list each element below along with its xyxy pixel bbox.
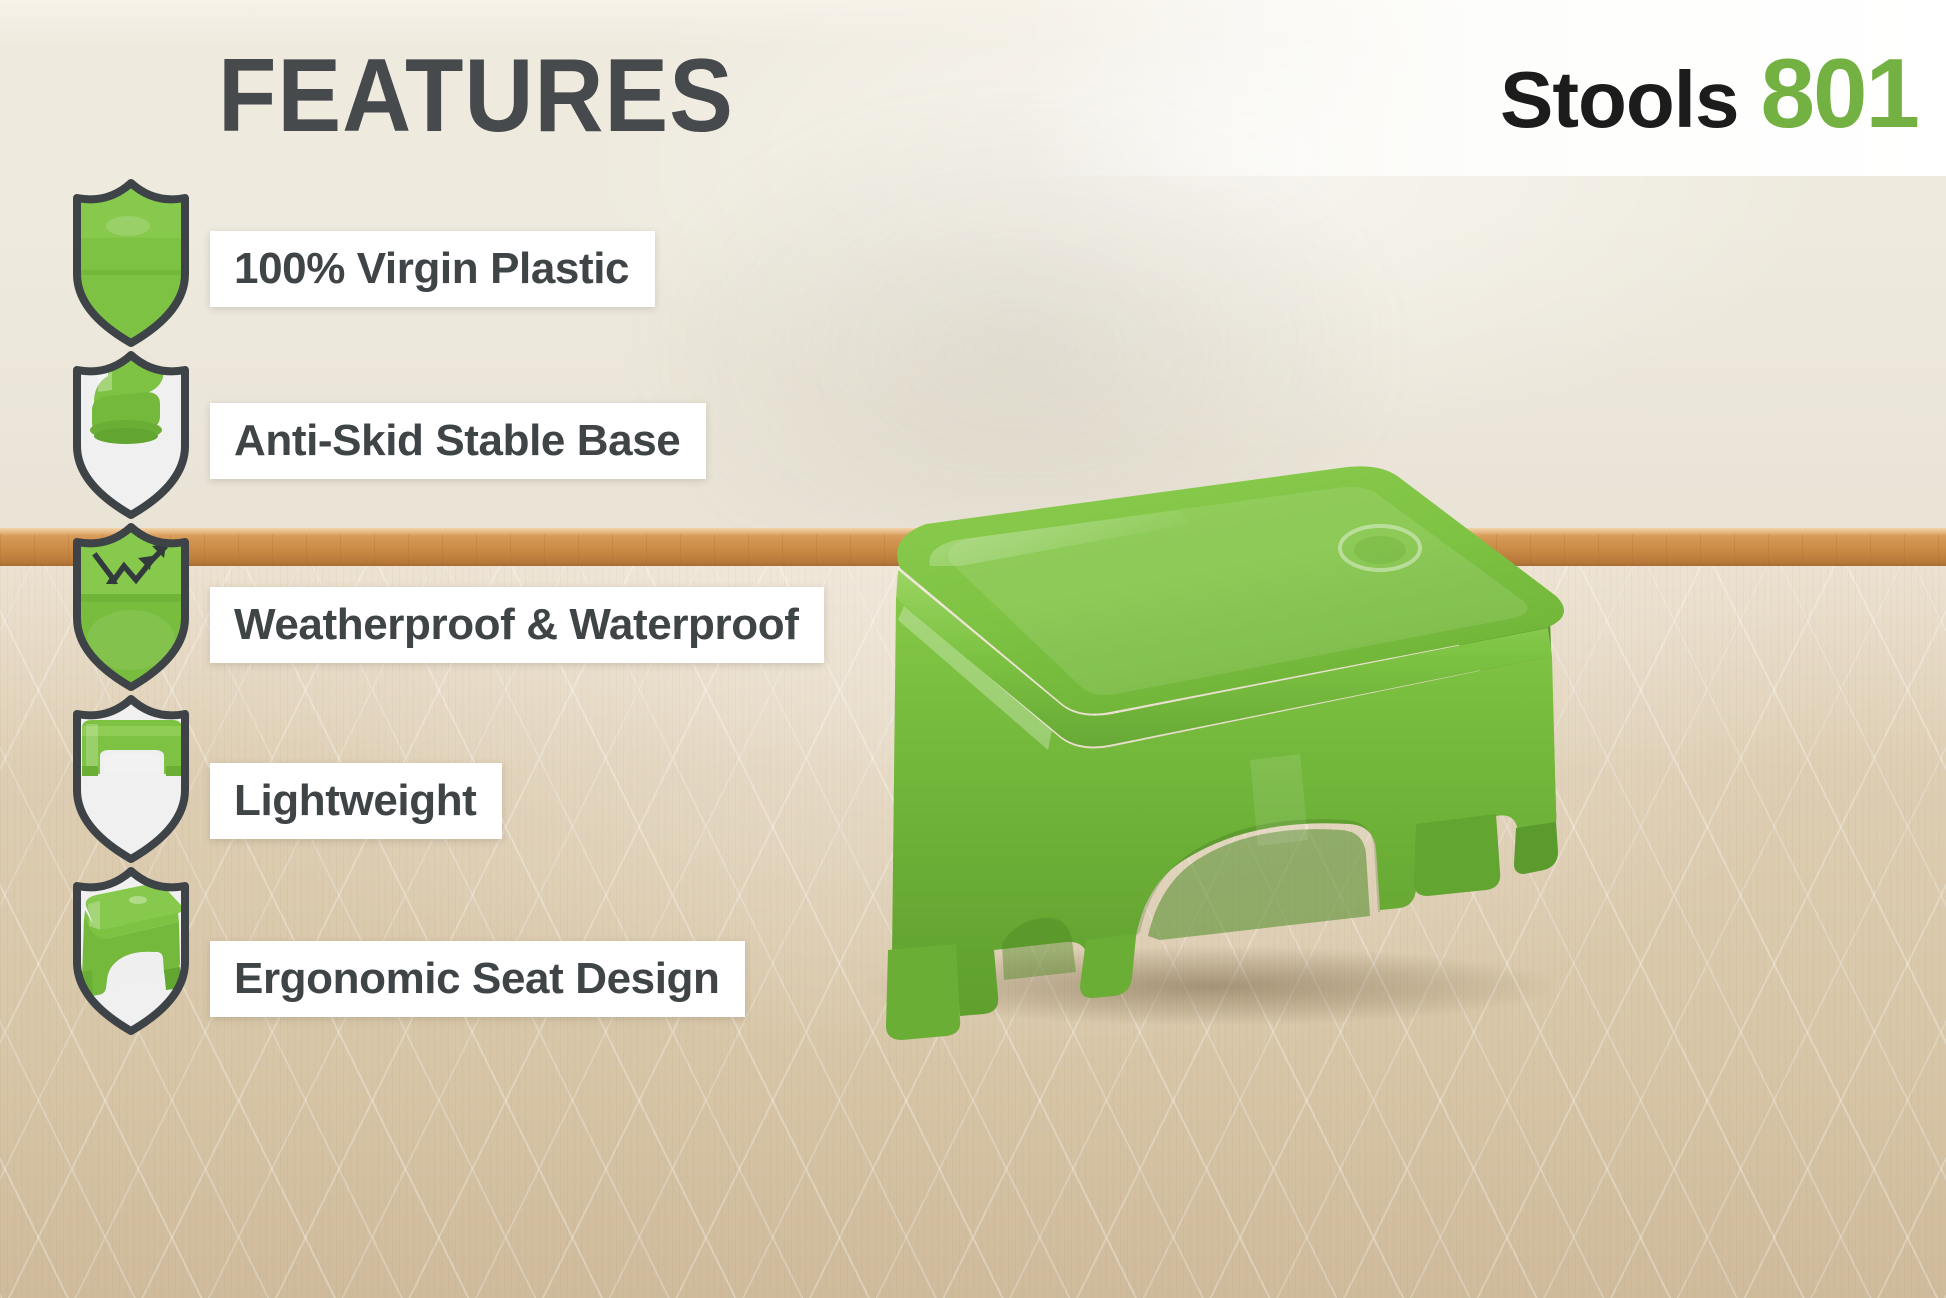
header-panel: Stools 801: [1020, 0, 1946, 176]
feature-row[interactable]: Ergonomic Seat Design: [0, 866, 745, 1036]
feature-row[interactable]: 100% Virgin Plastic: [0, 178, 655, 348]
feature-label: 100% Virgin Plastic: [234, 244, 629, 294]
feature-row[interactable]: Anti-Skid Stable Base: [0, 350, 706, 520]
feature-label-bar: Ergonomic Seat Design: [210, 941, 745, 1017]
shield-product-angle-icon: [68, 866, 194, 1036]
shield-product-leg-icon: [68, 350, 194, 520]
model-number: 801: [1760, 44, 1918, 142]
feature-label-bar: Weatherproof & Waterproof: [210, 587, 824, 663]
feature-row[interactable]: Weatherproof & Waterproof: [0, 522, 824, 692]
shield-product-front-icon: [68, 694, 194, 864]
product-photo: [780, 420, 1610, 1040]
feature-label: Weatherproof & Waterproof: [234, 600, 798, 650]
feature-label-bar: Anti-Skid Stable Base: [210, 403, 706, 479]
feature-row[interactable]: Lightweight: [0, 694, 502, 864]
product-title: Stools 801: [1500, 44, 1918, 142]
feature-label-bar: Lightweight: [210, 763, 502, 839]
shield-product-top-icon: [68, 178, 194, 348]
feature-label: Lightweight: [234, 776, 476, 826]
feature-label-bar: 100% Virgin Plastic: [210, 231, 655, 307]
feature-label: Anti-Skid Stable Base: [234, 416, 680, 466]
brand-name: Stools: [1500, 60, 1738, 140]
feature-label: Ergonomic Seat Design: [234, 954, 719, 1004]
shield-weather-arrows-icon: [68, 522, 194, 692]
features-list: 100% Virgin Plastic: [0, 0, 900, 1298]
